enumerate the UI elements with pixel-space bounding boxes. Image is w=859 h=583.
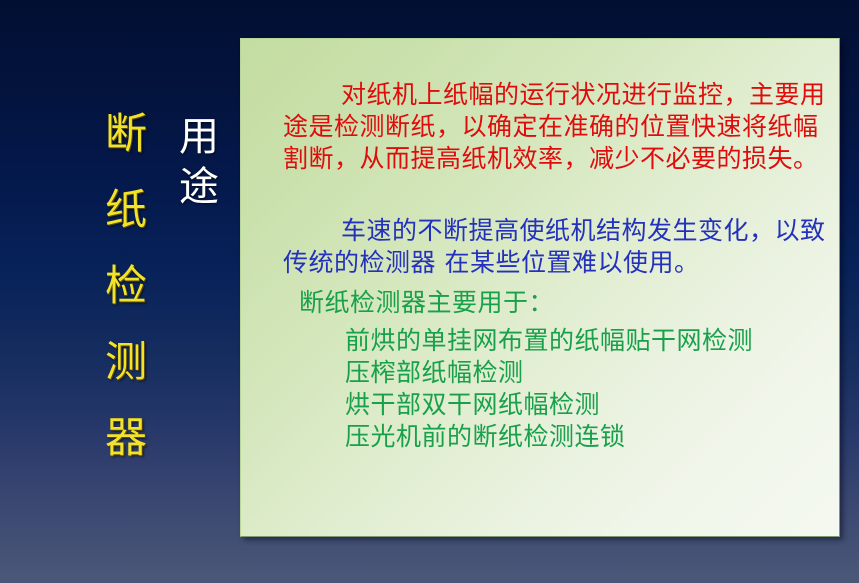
list-item: 压光机前的断纸检测连锁 bbox=[345, 421, 840, 453]
list-item: 前烘的单挂网布置的纸幅贴干网检测 bbox=[345, 325, 840, 357]
presentation-slide: 断 纸 检 测 器 用 途 对纸机上纸幅的运行状况进行监控，主要用途是检测断纸，… bbox=[0, 0, 859, 583]
green-heading: 断纸检测器主要用于： bbox=[299, 287, 839, 319]
green-list: 前烘的单挂网布置的纸幅贴干网检测 压榨部纸幅检测 烘干部双干网纸幅检测 压光机前… bbox=[345, 325, 840, 453]
paragraph-blue: 车速的不断提高使纸机结构发生变化，以致传统的检测器 在某些位置难以使用。 bbox=[283, 215, 839, 279]
list-item: 烘干部双干网纸幅检测 bbox=[345, 389, 840, 421]
paragraph-red: 对纸机上纸幅的运行状况进行监控，主要用途是检测断纸，以确定在准确的位置快速将纸幅… bbox=[283, 79, 839, 175]
slide-vertical-title: 断 纸 检 测 器 bbox=[96, 96, 156, 476]
list-item: 压榨部纸幅检测 bbox=[345, 357, 840, 389]
slide-vertical-subtitle: 用 途 bbox=[172, 112, 226, 212]
content-panel: 对纸机上纸幅的运行状况进行监控，主要用途是检测断纸，以确定在准确的位置快速将纸幅… bbox=[240, 38, 840, 537]
